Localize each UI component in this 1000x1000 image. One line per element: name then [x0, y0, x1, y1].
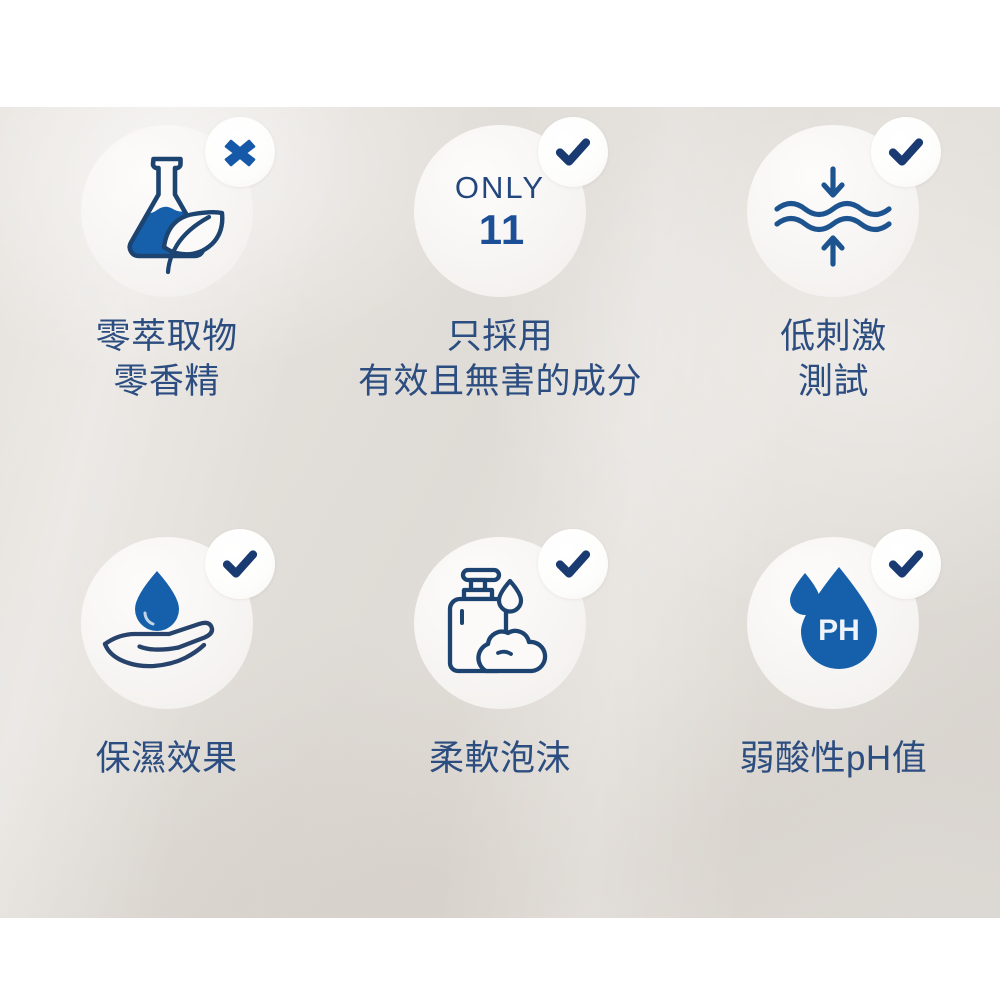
- feature-card-only-11: ONLY 11 只採用 有效且無害的成分: [333, 107, 666, 405]
- caption-line: 低刺激: [780, 315, 887, 360]
- close-icon: [220, 132, 260, 172]
- feature-grid: 零萃取物 零香精 ONLY 11 只採用 有效且無害的成分: [0, 107, 1000, 918]
- cross-badge: [205, 117, 275, 187]
- check-icon: [886, 132, 926, 172]
- check-badge: [205, 529, 275, 599]
- icon-disc-wrap: [81, 125, 253, 297]
- check-icon: [553, 132, 593, 172]
- feature-card-ph: PH 弱酸性pH值: [667, 513, 1000, 782]
- caption-line: 弱酸性pH值: [739, 737, 927, 782]
- ph-droplet-label: PH: [818, 614, 860, 647]
- feature-card-moisturizing: 保濕效果: [0, 513, 333, 782]
- feature-caption: 弱酸性pH值: [739, 737, 927, 782]
- check-icon: [886, 544, 926, 584]
- check-badge: [538, 117, 608, 187]
- icon-disc-wrap: ONLY 11: [414, 125, 586, 297]
- caption-line: 柔軟泡沫: [429, 737, 571, 782]
- check-badge: [871, 529, 941, 599]
- feature-caption: 保濕效果: [96, 737, 238, 782]
- check-icon: [220, 544, 260, 584]
- icon-disc-wrap: PH: [747, 537, 919, 709]
- caption-line: 零萃取物: [96, 315, 238, 360]
- feature-card-low-irritation: 低刺激 測試: [667, 107, 1000, 405]
- ingredient-count: 11: [479, 209, 525, 251]
- feature-caption: 柔軟泡沫: [429, 737, 571, 782]
- caption-line: 有效且無害的成分: [358, 360, 642, 405]
- feature-card-zero-extracts: 零萃取物 零香精: [0, 107, 333, 405]
- icon-disc-wrap: [81, 537, 253, 709]
- icon-disc-wrap: [414, 537, 586, 709]
- caption-line: 保濕效果: [96, 737, 238, 782]
- check-badge: [871, 117, 941, 187]
- feature-card-soft-foam: 柔軟泡沫: [333, 513, 666, 782]
- icon-disc-wrap: [747, 125, 919, 297]
- caption-line: 零香精: [96, 360, 238, 405]
- feature-caption: 只採用 有效且無害的成分: [358, 315, 642, 405]
- caption-line: 只採用: [358, 315, 642, 360]
- feature-caption: 低刺激 測試: [780, 315, 887, 405]
- check-icon: [553, 544, 593, 584]
- feature-infographic: 零萃取物 零香精 ONLY 11 只採用 有效且無害的成分: [0, 0, 1000, 1000]
- caption-line: 測試: [780, 360, 887, 405]
- check-badge: [538, 529, 608, 599]
- feature-caption: 零萃取物 零香精: [96, 315, 238, 405]
- only-label: ONLY: [455, 172, 545, 203]
